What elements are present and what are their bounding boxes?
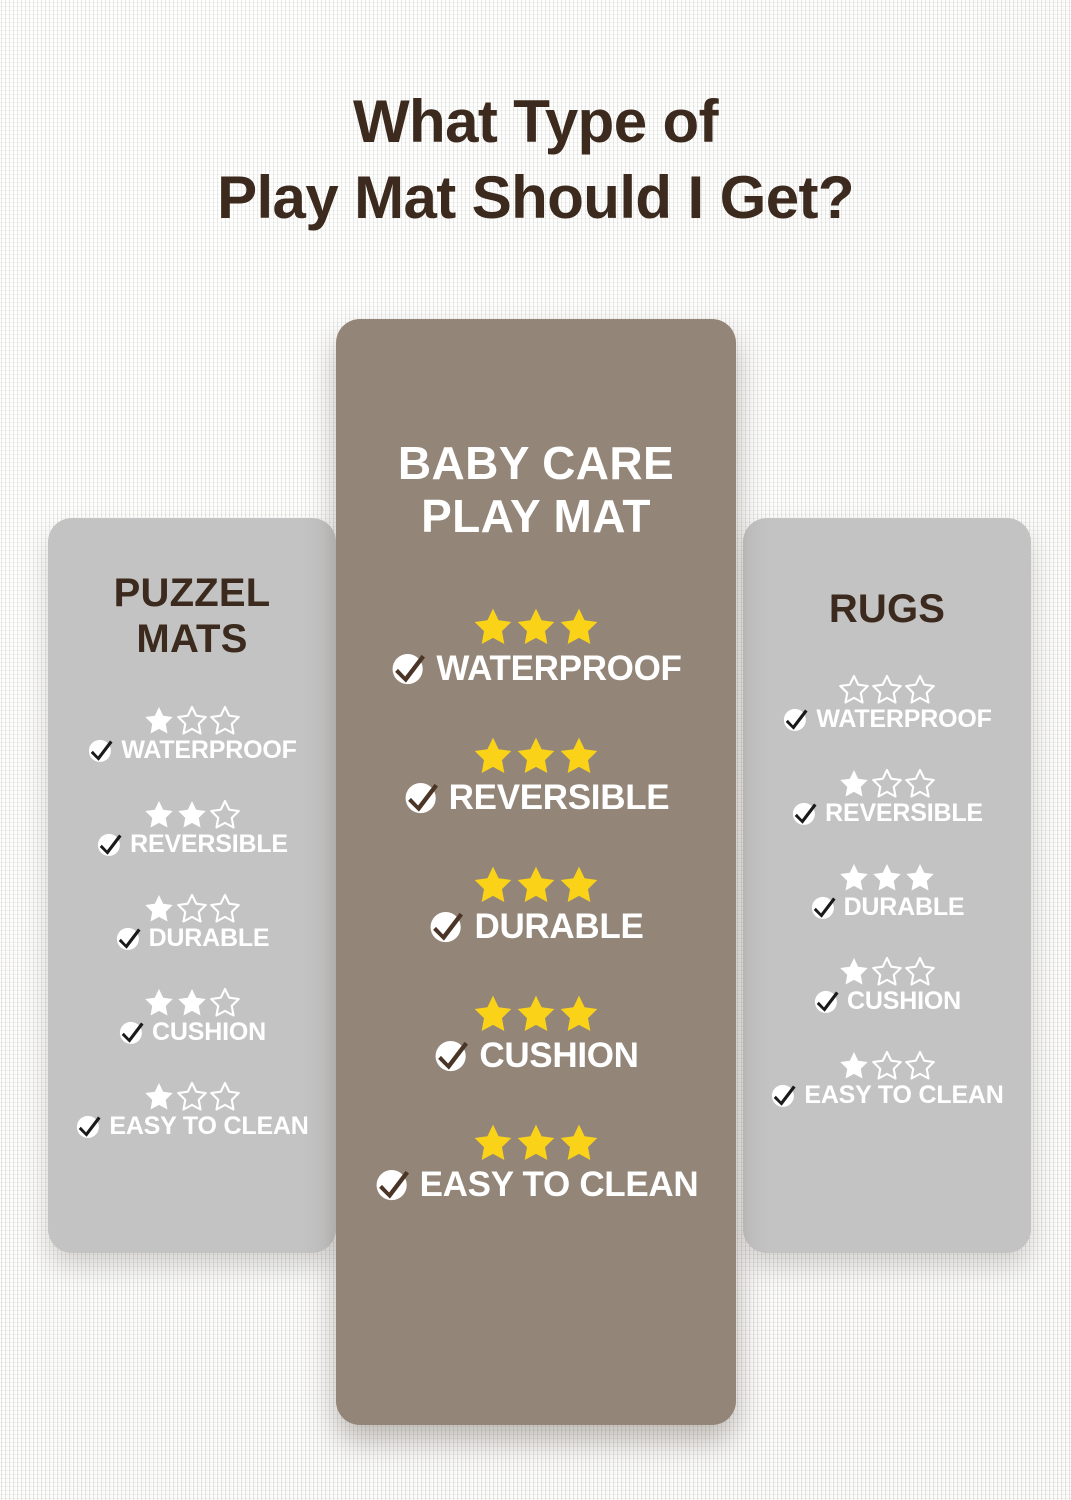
feature-row-reversible: REVERSIBLE	[336, 735, 736, 816]
star-filled-icon	[905, 862, 935, 892]
star-filled-icon	[473, 735, 513, 775]
star-filled-icon	[559, 735, 599, 775]
check-circle-icon	[118, 1019, 145, 1046]
feature-row-cushion: CUSHION	[743, 956, 1031, 1015]
star-filled-icon	[177, 799, 207, 829]
feature-row-durable: DURABLE	[48, 893, 336, 952]
star-filled-icon	[144, 987, 174, 1017]
feature-row-durable: DURABLE	[743, 862, 1031, 921]
feature-list-baby-care-play-mat: WATERPROOF REVERSIBLE DURABLE	[336, 606, 736, 1203]
star-outline-icon	[905, 768, 935, 798]
star-outline-icon	[872, 1050, 902, 1080]
check-circle-icon	[96, 831, 123, 858]
star-rating-cushion	[839, 956, 935, 986]
feature-row-waterproof: WATERPROOF	[48, 705, 336, 764]
check-circle-icon	[791, 800, 818, 827]
star-rating-waterproof	[473, 606, 599, 646]
feature-label: WATERPROOF	[816, 707, 991, 732]
feature-row-waterproof: WATERPROOF	[743, 674, 1031, 733]
feature-row-easy-to-clean: EASY TO CLEAN	[743, 1050, 1031, 1109]
star-rating-reversible	[839, 768, 935, 798]
star-rating-cushion	[144, 987, 240, 1017]
star-rating-reversible	[473, 735, 599, 775]
star-filled-icon	[559, 864, 599, 904]
star-filled-icon	[516, 606, 556, 646]
feature-label: CUSHION	[847, 989, 961, 1014]
star-filled-icon	[839, 956, 869, 986]
star-filled-icon	[473, 993, 513, 1033]
star-filled-icon	[144, 799, 174, 829]
star-outline-icon	[177, 893, 207, 923]
feature-row-reversible: REVERSIBLE	[743, 768, 1031, 827]
feature-row-easy-to-clean: EASY TO CLEAN	[48, 1081, 336, 1140]
star-filled-icon	[144, 705, 174, 735]
page-title-line-1: What Type of	[0, 84, 1071, 160]
star-filled-icon	[473, 606, 513, 646]
feature-label: CUSHION	[479, 1038, 638, 1073]
page-title: What Type of Play Mat Should I Get?	[0, 84, 1071, 236]
feature-label-row-durable: DURABLE	[428, 908, 643, 945]
star-filled-icon	[839, 768, 869, 798]
star-filled-icon	[516, 993, 556, 1033]
feature-label-row-durable: DURABLE	[115, 925, 270, 952]
feature-label-row-waterproof: WATERPROOF	[87, 737, 296, 764]
page-title-line-2: Play Mat Should I Get?	[0, 160, 1071, 236]
feature-label-row-waterproof: WATERPROOF	[390, 650, 681, 687]
feature-label: EASY TO CLEAN	[109, 1114, 308, 1139]
star-outline-icon	[905, 956, 935, 986]
star-filled-icon	[839, 862, 869, 892]
star-outline-icon	[905, 674, 935, 704]
feature-label: EASY TO CLEAN	[804, 1083, 1003, 1108]
star-outline-icon	[177, 705, 207, 735]
star-rating-durable	[473, 864, 599, 904]
check-circle-icon	[75, 1113, 102, 1140]
feature-label-row-cushion: CUSHION	[118, 1019, 266, 1046]
feature-row-waterproof: WATERPROOF	[336, 606, 736, 687]
check-circle-icon	[433, 1037, 470, 1074]
feature-label-row-cushion: CUSHION	[433, 1037, 638, 1074]
star-filled-icon	[559, 1122, 599, 1162]
feature-row-reversible: REVERSIBLE	[48, 799, 336, 858]
comparison-card-puzzel-mats[interactable]: PUZZEL MATS WATERPROOF REVERSIBLE	[48, 518, 336, 1253]
feature-label: REVERSIBLE	[825, 801, 983, 826]
star-filled-icon	[144, 893, 174, 923]
card-heading-line-1: PUZZEL	[48, 570, 336, 616]
star-filled-icon	[516, 1122, 556, 1162]
star-filled-icon	[559, 993, 599, 1033]
star-filled-icon	[839, 1050, 869, 1080]
star-outline-icon	[210, 893, 240, 923]
feature-label: CUSHION	[152, 1020, 266, 1045]
feature-label-row-reversible: REVERSIBLE	[96, 831, 288, 858]
feature-row-cushion: CUSHION	[336, 993, 736, 1074]
star-rating-durable	[839, 862, 935, 892]
star-rating-durable	[144, 893, 240, 923]
star-filled-icon	[473, 1122, 513, 1162]
star-outline-icon	[872, 674, 902, 704]
check-circle-icon	[374, 1166, 411, 1203]
feature-label-row-reversible: REVERSIBLE	[403, 779, 670, 816]
check-circle-icon	[403, 779, 440, 816]
feature-list-rugs: WATERPROOF REVERSIBLE DURABLE	[743, 674, 1031, 1109]
star-rating-easy-to-clean	[839, 1050, 935, 1080]
feature-row-durable: DURABLE	[336, 864, 736, 945]
feature-label: WATERPROOF	[121, 738, 296, 763]
card-heading-baby-care-play-mat: BABY CARE PLAY MAT	[336, 319, 736, 544]
star-rating-waterproof	[839, 674, 935, 704]
star-rating-cushion	[473, 993, 599, 1033]
feature-label: DURABLE	[474, 909, 643, 944]
star-outline-icon	[210, 1081, 240, 1111]
card-heading-line-1: RUGS	[743, 586, 1031, 632]
star-outline-icon	[872, 768, 902, 798]
feature-row-easy-to-clean: EASY TO CLEAN	[336, 1122, 736, 1203]
star-rating-reversible	[144, 799, 240, 829]
feature-label: REVERSIBLE	[130, 832, 288, 857]
star-rating-waterproof	[144, 705, 240, 735]
check-circle-icon	[428, 908, 465, 945]
feature-label: DURABLE	[844, 895, 965, 920]
comparison-card-rugs[interactable]: RUGS WATERPROOF REVERSIBLE	[743, 518, 1031, 1253]
check-circle-icon	[782, 706, 809, 733]
feature-label: EASY TO CLEAN	[420, 1167, 699, 1202]
star-outline-icon	[839, 674, 869, 704]
check-circle-icon	[390, 650, 427, 687]
star-outline-icon	[872, 956, 902, 986]
star-filled-icon	[516, 864, 556, 904]
card-heading-puzzel-mats: PUZZEL MATS	[48, 518, 336, 663]
star-filled-icon	[177, 987, 207, 1017]
feature-label-row-reversible: REVERSIBLE	[791, 800, 983, 827]
star-filled-icon	[144, 1081, 174, 1111]
star-outline-icon	[210, 705, 240, 735]
check-circle-icon	[115, 925, 142, 952]
star-filled-icon	[516, 735, 556, 775]
check-circle-icon	[810, 894, 837, 921]
star-rating-easy-to-clean	[144, 1081, 240, 1111]
star-outline-icon	[210, 987, 240, 1017]
feature-label: REVERSIBLE	[449, 780, 670, 815]
star-filled-icon	[872, 862, 902, 892]
star-filled-icon	[473, 864, 513, 904]
card-heading-line-2: MATS	[48, 616, 336, 662]
feature-list-puzzel-mats: WATERPROOF REVERSIBLE DURABLE	[48, 705, 336, 1140]
check-circle-icon	[813, 988, 840, 1015]
star-filled-icon	[559, 606, 599, 646]
card-heading-rugs: RUGS	[743, 518, 1031, 632]
feature-label-row-waterproof: WATERPROOF	[782, 706, 991, 733]
star-outline-icon	[210, 799, 240, 829]
comparison-card-baby-care-play-mat[interactable]: BABY CARE PLAY MAT WATERPROOF REVERSIBLE	[336, 319, 736, 1425]
card-heading-line-2: PLAY MAT	[336, 490, 736, 543]
card-heading-line-1: BABY CARE	[336, 437, 736, 490]
feature-label-row-easy-to-clean: EASY TO CLEAN	[374, 1166, 699, 1203]
feature-row-cushion: CUSHION	[48, 987, 336, 1046]
feature-label-row-easy-to-clean: EASY TO CLEAN	[770, 1082, 1003, 1109]
feature-label-row-easy-to-clean: EASY TO CLEAN	[75, 1113, 308, 1140]
check-circle-icon	[770, 1082, 797, 1109]
check-circle-icon	[87, 737, 114, 764]
feature-label-row-durable: DURABLE	[810, 894, 965, 921]
star-outline-icon	[905, 1050, 935, 1080]
feature-label: DURABLE	[149, 926, 270, 951]
star-outline-icon	[177, 1081, 207, 1111]
feature-label: WATERPROOF	[436, 651, 681, 686]
feature-label-row-cushion: CUSHION	[813, 988, 961, 1015]
star-rating-easy-to-clean	[473, 1122, 599, 1162]
